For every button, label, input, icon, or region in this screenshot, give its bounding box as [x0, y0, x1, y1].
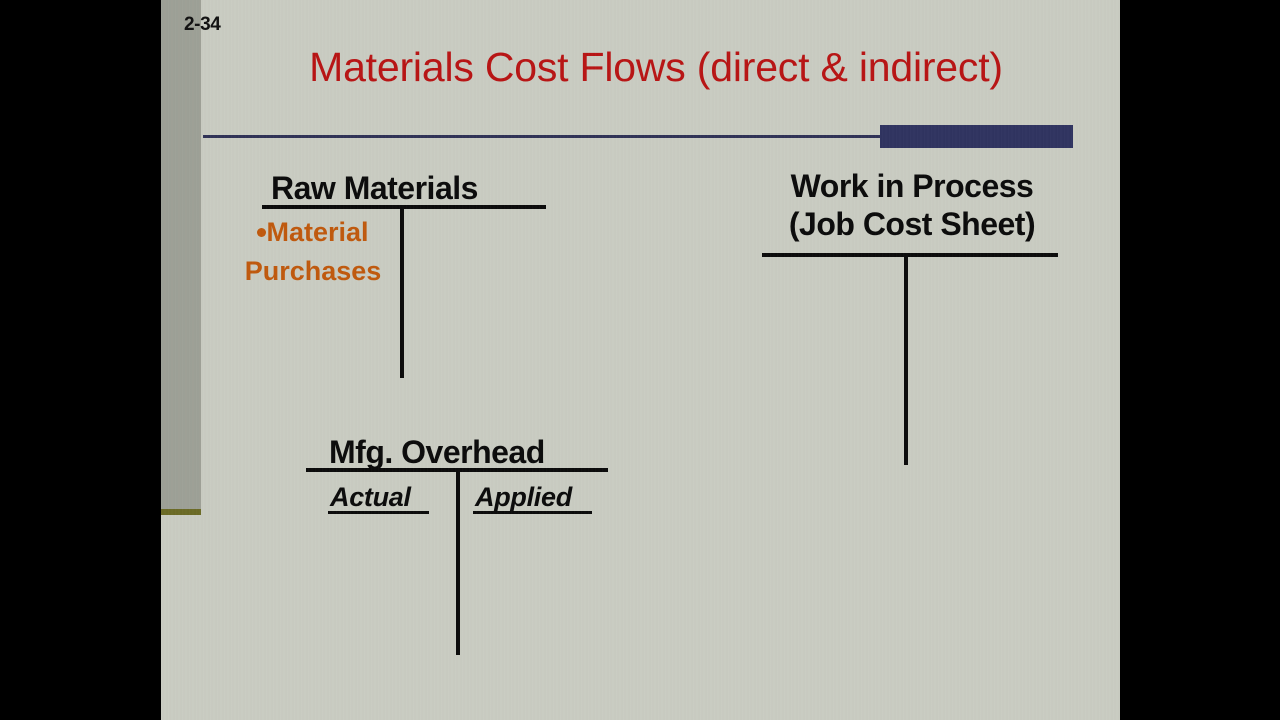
mfg-overhead-debit-underline — [328, 511, 429, 514]
mfg-overhead-debit-label: Actual — [330, 482, 411, 513]
raw-materials-entry-line2: Purchases — [245, 256, 382, 286]
work-in-process-heading: Work in Process (Job Cost Sheet) — [762, 167, 1062, 243]
title-divider-bar — [880, 125, 1073, 148]
slide-side-strip — [161, 0, 201, 512]
raw-materials-stem — [400, 208, 404, 378]
slide-side-strip-accent — [161, 509, 201, 515]
raw-materials-rule — [262, 205, 546, 209]
letterbox-left — [0, 0, 161, 720]
raw-materials-heading: Raw Materials — [271, 169, 478, 207]
slide-screen: 2-34 Materials Cost Flows (direct & indi… — [0, 0, 1280, 720]
letterbox-right — [1120, 0, 1280, 720]
work-in-process-rule — [762, 253, 1058, 257]
work-in-process-heading-line2: (Job Cost Sheet) — [789, 206, 1035, 242]
raw-materials-entry: Material Purchases — [228, 213, 398, 291]
mfg-overhead-credit-underline — [473, 511, 592, 514]
work-in-process-stem — [904, 256, 908, 465]
work-in-process-heading-line1: Work in Process — [791, 168, 1034, 204]
mfg-overhead-credit-label: Applied — [475, 482, 572, 513]
presentation-slide: 2-34 Materials Cost Flows (direct & indi… — [161, 0, 1120, 720]
page-title: Materials Cost Flows (direct & indirect) — [201, 44, 1111, 91]
slide-number: 2-34 — [184, 14, 220, 36]
mfg-overhead-heading: Mfg. Overhead — [329, 433, 545, 471]
raw-materials-entry-line1: Material — [266, 217, 368, 247]
title-divider-line — [203, 135, 883, 138]
mfg-overhead-stem — [456, 471, 460, 655]
